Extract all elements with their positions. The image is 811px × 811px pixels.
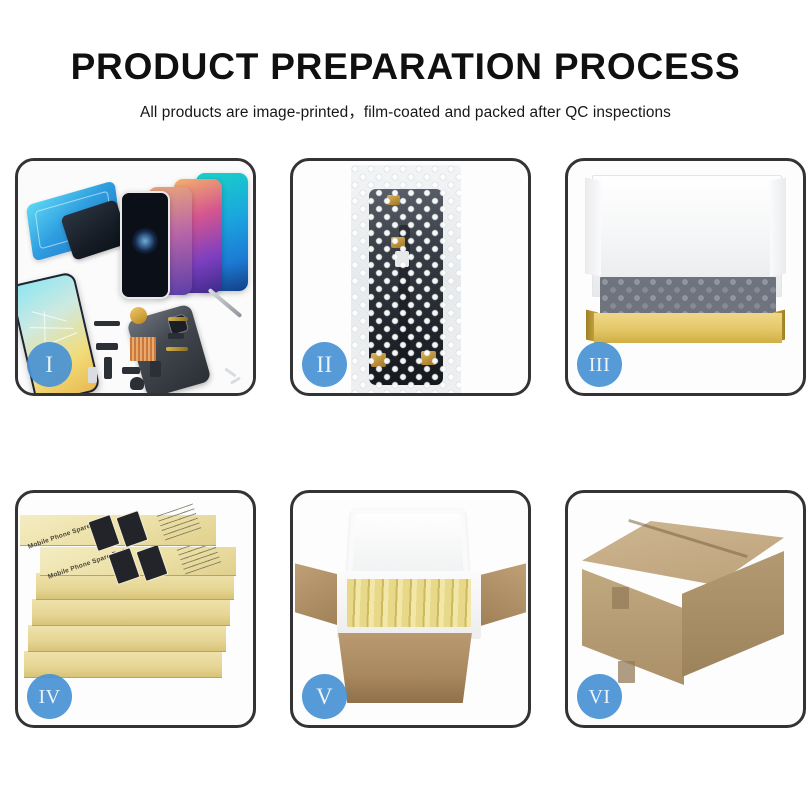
speaker-coil-part: [130, 307, 147, 324]
retail-box-layer-1: Mobile Phone Spare Parts: [40, 547, 236, 575]
flex-cable-part-1: [168, 317, 188, 321]
step-badge-3: III: [577, 342, 622, 387]
yellow-boxes-inside: [347, 579, 471, 627]
step-badge-2: II: [302, 342, 347, 387]
retail-box-layer-4: [28, 625, 226, 651]
bubble-texture: [351, 165, 461, 393]
flex-cable-part-2: [166, 347, 188, 351]
retail-box-layer-5: [24, 651, 222, 677]
step-numeral-4: IV: [38, 687, 60, 707]
process-step-grid: I II: [15, 158, 800, 728]
carton-front-panel: [329, 633, 481, 703]
vibrator-motor-part: [130, 377, 144, 390]
step-numeral-5: V: [316, 685, 333, 708]
process-step-panel-2: II: [290, 158, 531, 396]
step-badge-6: VI: [577, 674, 622, 719]
carton-tape-tab-upper: [612, 587, 629, 609]
sim-tray-part: [88, 367, 97, 383]
box-lid-flap-left: [585, 177, 601, 276]
step-numeral-6: VI: [588, 687, 610, 707]
bubble-wrap-bag: [351, 165, 461, 393]
connector-part-1: [96, 343, 118, 350]
step-numeral-1: I: [45, 353, 53, 376]
process-step-panel-4: Mobile Phone Spare Parts Mobile Phone Sp…: [15, 490, 256, 728]
step-badge-1: I: [27, 342, 72, 387]
connector-part-2: [104, 357, 112, 379]
process-step-panel-1: I: [15, 158, 256, 396]
phone-lineup: [118, 173, 253, 308]
page-title: PRODUCT PREPARATION PROCESS: [0, 0, 811, 87]
foam-box-lid: [347, 509, 470, 580]
page-subtitle: All products are image-printed，film-coat…: [0, 87, 811, 122]
box-front-panel: [594, 313, 782, 343]
step-badge-4: IV: [27, 674, 72, 719]
step-numeral-3: III: [589, 355, 610, 375]
process-step-panel-3: III: [565, 158, 806, 396]
carton-tape-tab-lower: [618, 661, 635, 683]
connector-part-3: [122, 367, 140, 374]
earpiece-mesh-part: [94, 321, 120, 326]
connector-part-4: [168, 333, 184, 339]
process-step-panel-6: VI: [565, 490, 806, 728]
retail-box-top: Mobile Phone Spare Parts: [20, 515, 216, 545]
camera-module-part: [150, 361, 161, 377]
step-badge-5: V: [302, 674, 347, 719]
chip-grid-part: [130, 337, 156, 361]
retail-box-layer-3: [32, 599, 230, 625]
box-lid-flap-right: [770, 177, 786, 276]
page-header: PRODUCT PREPARATION PROCESS All products…: [0, 0, 811, 122]
process-step-panel-5: V: [290, 490, 531, 728]
step-numeral-2: II: [316, 353, 332, 376]
